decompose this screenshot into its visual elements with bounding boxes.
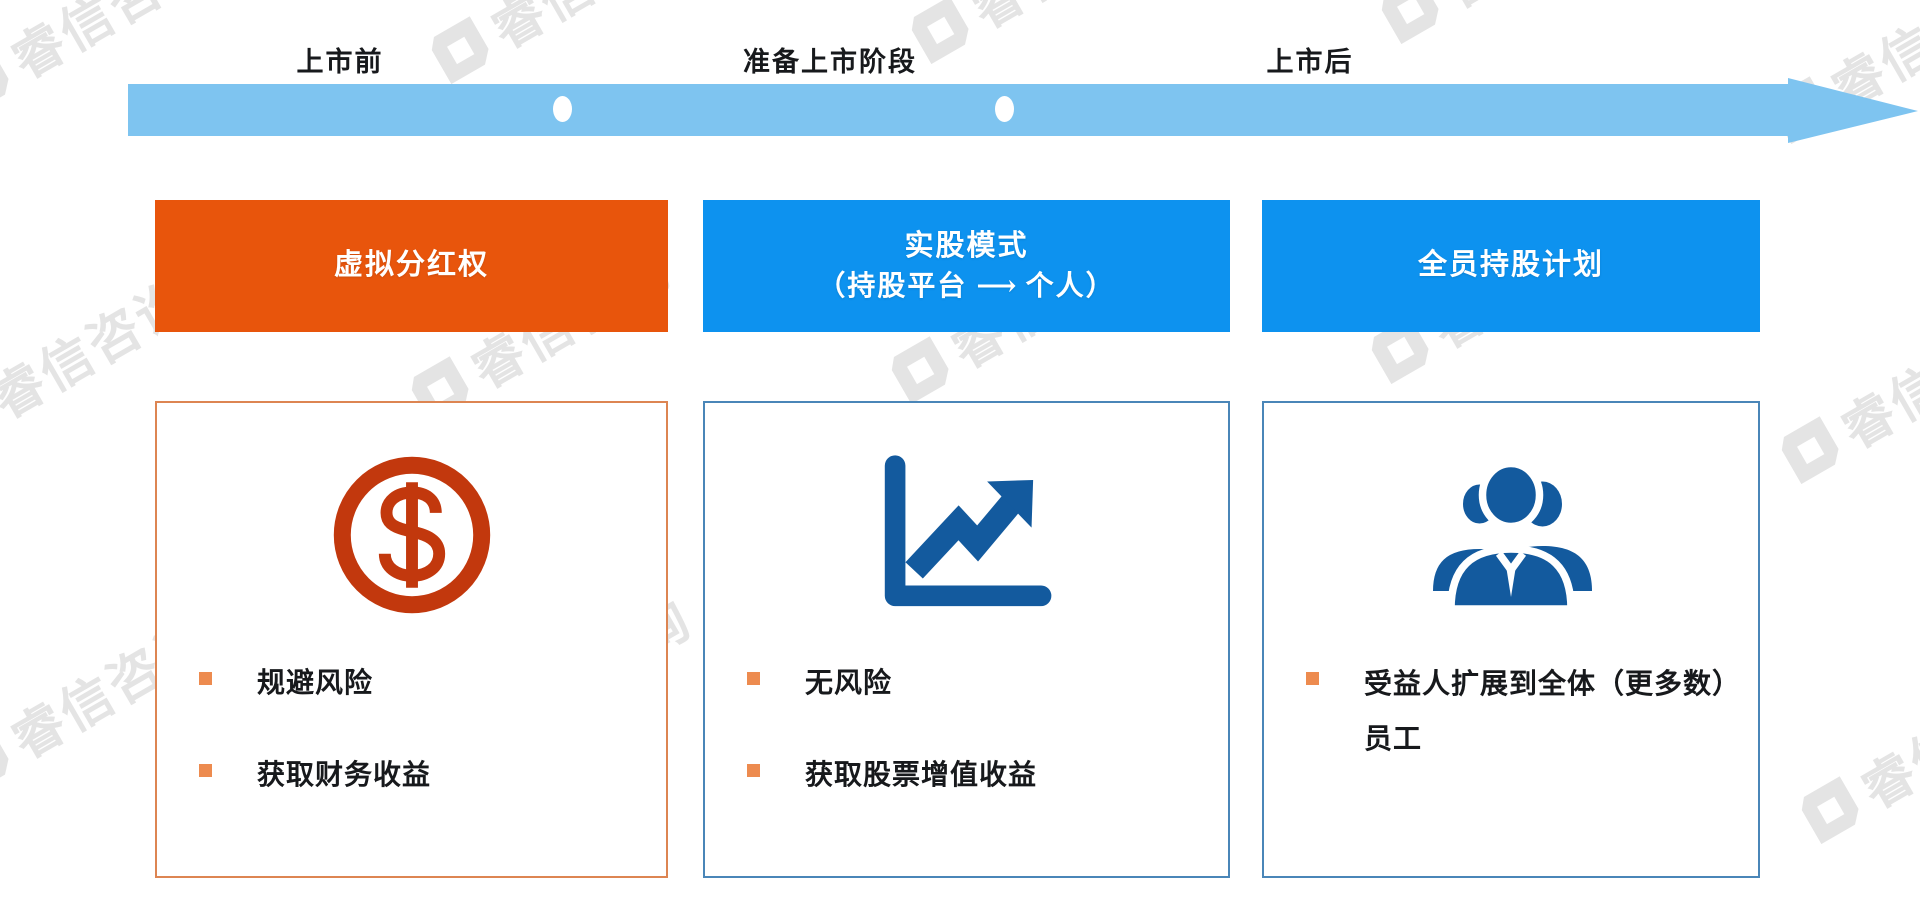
list-item: 无风险 — [747, 658, 1202, 710]
card-bullet-list: 规避风险 获取财务收益 — [199, 658, 640, 842]
bullet-label: 规避风险 — [257, 658, 373, 710]
card-all-employee-plan[interactable]: 受益人扩展到全体（更多数）员工 — [1262, 401, 1760, 878]
list-item: 规避风险 — [199, 658, 640, 710]
card-bullet-list: 受益人扩展到全体（更多数）员工 — [1306, 658, 1732, 807]
bullet-label: 获取股票增值收益 — [805, 750, 1037, 802]
list-item: 受益人扩展到全体（更多数）员工 — [1306, 658, 1732, 767]
card-icon-wrapper — [1264, 435, 1758, 635]
timeline-bar — [128, 84, 1808, 136]
banner-virtual-dividend[interactable]: 虚拟分红权 — [155, 200, 668, 332]
bullet-label: 受益人扩展到全体（更多数）员工 — [1364, 658, 1732, 767]
card-virtual-dividend[interactable]: 规避风险 获取财务收益 — [155, 401, 668, 878]
bullet-square-icon — [747, 672, 760, 685]
card-icon-wrapper — [705, 435, 1228, 635]
bullet-square-icon — [747, 764, 760, 777]
phase-label-post-ipo: 上市后 — [1130, 40, 1490, 79]
banner-all-employee-plan[interactable]: 全员持股计划 — [1262, 200, 1760, 332]
banner-real-equity[interactable]: 实股模式 （持股平台 ⟶ 个人） — [703, 200, 1230, 332]
bullet-square-icon — [1306, 672, 1319, 685]
banner-title: 虚拟分红权 — [334, 245, 489, 286]
people-group-icon — [1421, 453, 1601, 618]
banner-subtitle-prefix: （持股平台 — [817, 271, 967, 302]
card-icon-wrapper — [157, 435, 666, 635]
banner-title: 实股模式 — [817, 226, 1115, 267]
dollar-circle-icon — [327, 450, 497, 620]
banner-subtitle: （持股平台 ⟶ 个人） — [817, 267, 1115, 307]
banner-subtitle-suffix: 个人） — [1026, 271, 1116, 302]
list-item: 获取财务收益 — [199, 750, 640, 802]
timeline-arrow — [128, 78, 1918, 143]
timeline-arrow-head-icon — [1788, 78, 1918, 143]
phase-label-preparing-ipo: 准备上市阶段 — [650, 40, 1010, 79]
card-bullet-list: 无风险 获取股票增值收益 — [747, 658, 1202, 842]
list-item: 获取股票增值收益 — [747, 750, 1202, 802]
bullet-label: 获取财务收益 — [257, 750, 431, 802]
bullet-square-icon — [199, 672, 212, 685]
bullet-square-icon — [199, 764, 212, 777]
card-real-equity[interactable]: 无风险 获取股票增值收益 — [703, 401, 1230, 878]
right-arrow-icon: ⟶ — [976, 271, 1016, 302]
phase-label-pre-ipo: 上市前 — [210, 40, 470, 79]
bullet-label: 无风险 — [805, 658, 892, 710]
milestone-node-icon — [995, 96, 1014, 122]
banner-title: 全员持股计划 — [1418, 245, 1604, 286]
milestone-node-icon — [553, 96, 572, 122]
growth-chart-icon — [879, 453, 1054, 618]
